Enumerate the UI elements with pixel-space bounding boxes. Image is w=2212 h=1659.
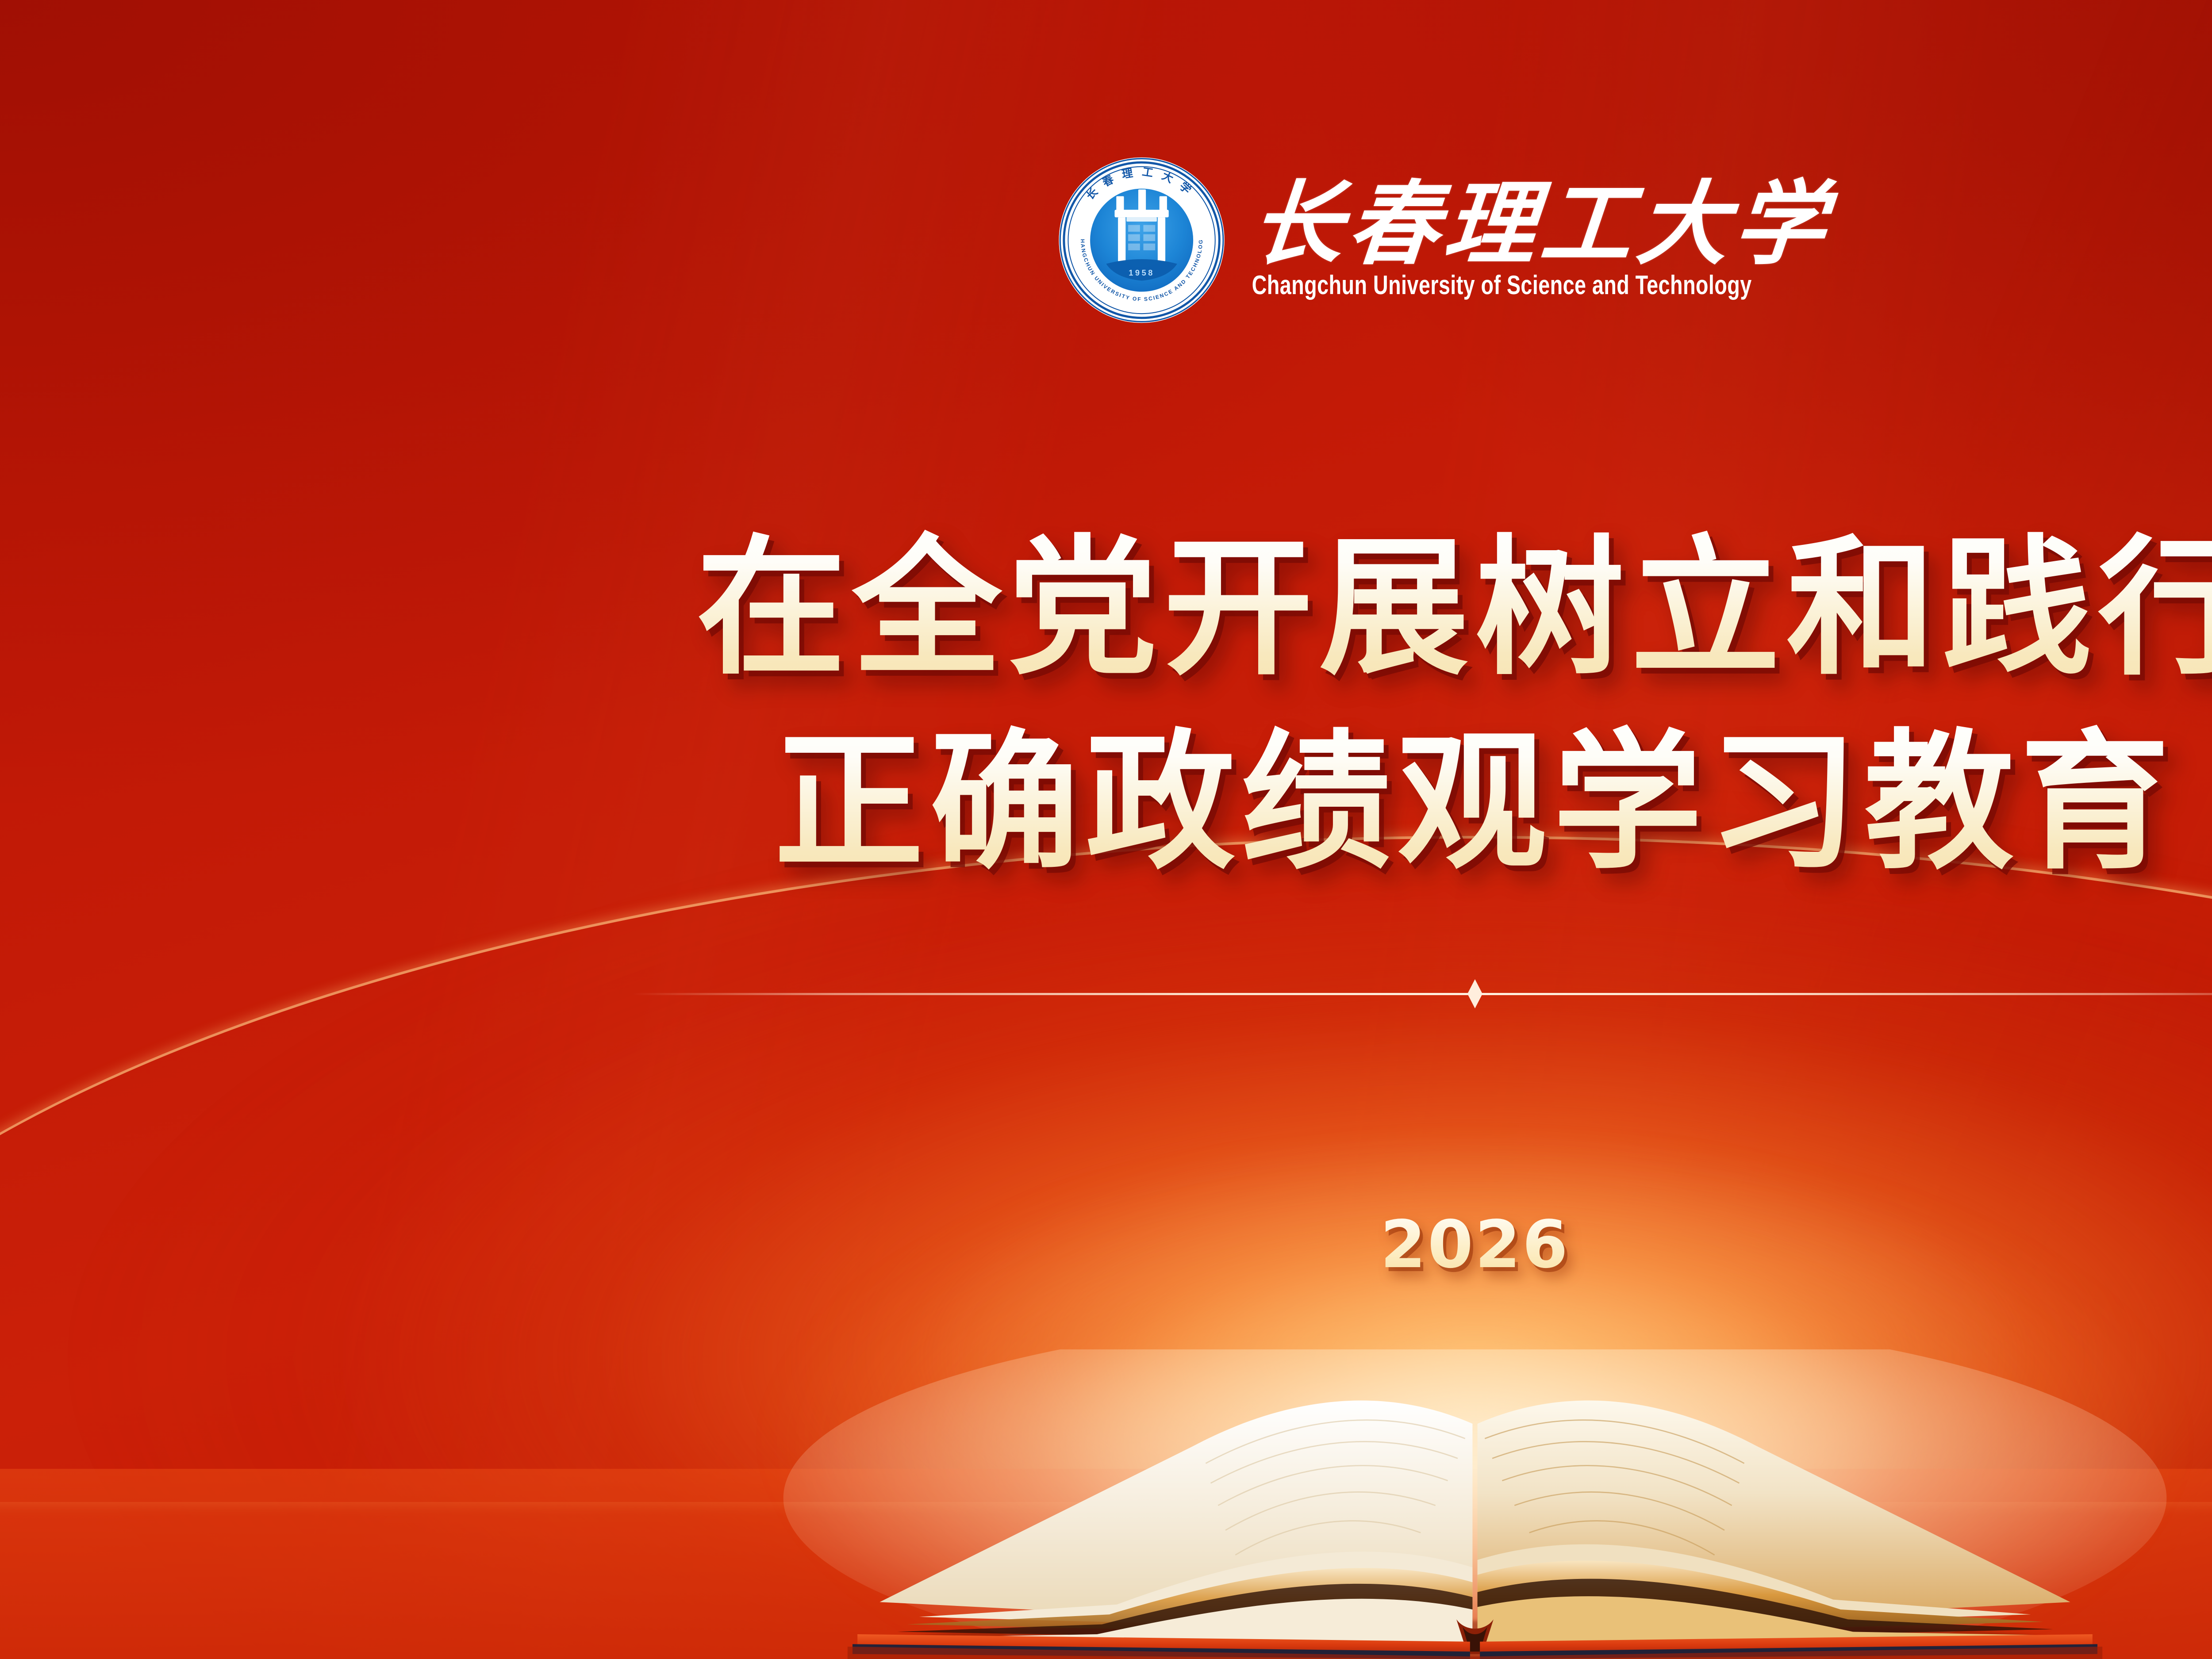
page-title: 在全党开展树立和践行 正确政绩观学习教育	[0, 511, 2212, 900]
brand-name-block: 长春理工大学 Changchun University of Science a…	[1252, 178, 1893, 302]
brand-name-en: Changchun University of Science and Tech…	[1252, 272, 1752, 299]
svg-text:1958: 1958	[1129, 268, 1155, 277]
page-title-line-2: 正确政绩观学习教育	[0, 705, 2212, 900]
brand-name-cn: 长春理工大学	[1248, 178, 1835, 269]
divider-rule	[632, 993, 2212, 995]
changchun-university-seal-icon: 1958 长春理工大学 CHANGCHUN UNIVERSITY OF SCIE…	[1057, 156, 1226, 325]
poster-canvas: 1958 长春理工大学 CHANGCHUN UNIVERSITY OF SCIE…	[0, 0, 2212, 1659]
brand-lockup: 1958 长春理工大学 CHANGCHUN UNIVERSITY OF SCIE…	[1057, 156, 1893, 325]
open-book-icon	[734, 1349, 2212, 1659]
year-label: 2026	[0, 1212, 2212, 1277]
page-title-line-1: 在全党开展树立和践行	[0, 511, 2212, 705]
ornamental-divider	[632, 978, 2212, 1009]
diamond-ornament-icon	[1467, 979, 1482, 1008]
